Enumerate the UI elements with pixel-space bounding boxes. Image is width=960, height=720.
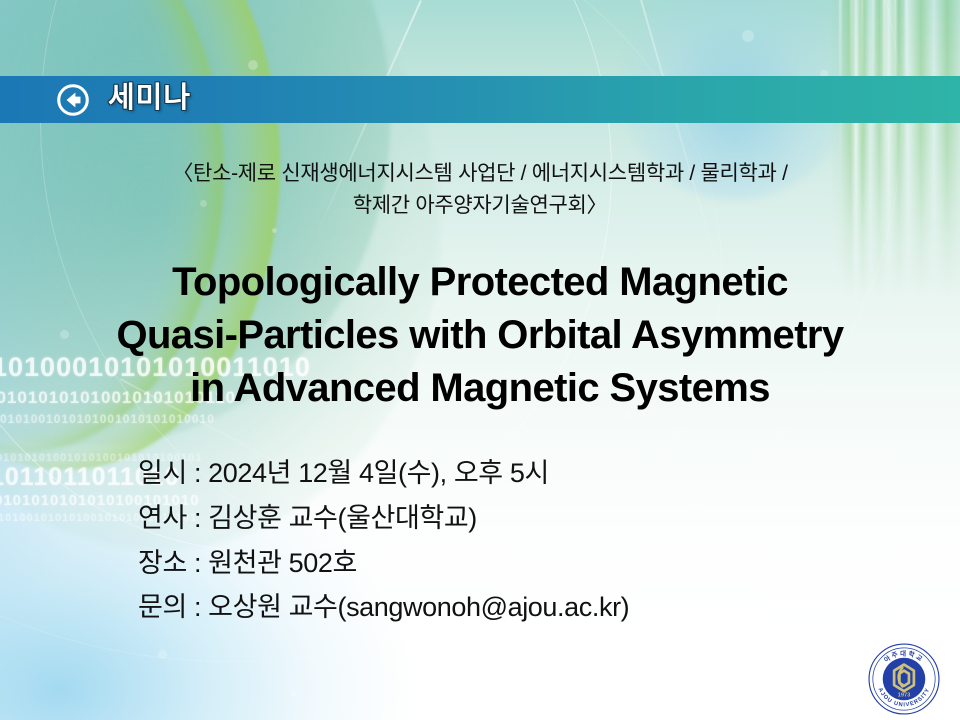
background-bokeh-dot — [290, 690, 297, 697]
seminar-details: 일시 : 2024년 12월 4일(수), 오후 5시 연사 : 김상훈 교수(… — [138, 451, 898, 630]
circle-left-arrow-icon[interactable] — [56, 83, 90, 117]
detail-speaker: 연사 : 김상훈 교수(울산대학교) — [138, 496, 898, 541]
background-bokeh-dot — [272, 228, 277, 233]
background-bokeh-dot — [742, 30, 754, 42]
background-bokeh-dot — [158, 650, 167, 659]
background-bokeh-dot — [248, 60, 258, 70]
seminar-poster: 10100010101010011010 1010101010100101010… — [0, 0, 960, 720]
detail-contact: 문의 : 오상원 교수(sangwonoh@ajou.ac.kr) — [138, 585, 898, 630]
organizer-subtitle-line: 학제간 아주양자기술연구회〉 — [0, 190, 960, 222]
detail-datetime: 일시 : 2024년 12월 4일(수), 오후 5시 — [138, 451, 898, 496]
organizer-subtitle: 〈탄소-제로 신재생에너지시스템 사업단 / 에너지시스템학과 / 물리학과 /… — [0, 158, 960, 222]
page-title-line: in Advanced Magnetic Systems — [0, 362, 960, 415]
page-title-line: Quasi-Particles with Orbital Asymmetry — [0, 309, 960, 362]
banner-title: 세미나 — [108, 84, 191, 116]
seminar-banner: 세미나 — [0, 76, 960, 123]
organizer-subtitle-line: 〈탄소-제로 신재생에너지시스템 사업단 / 에너지시스템학과 / 물리학과 / — [0, 158, 960, 190]
page-title: Topologically Protected Magnetic Quasi-P… — [0, 256, 960, 414]
page-title-line: Topologically Protected Magnetic — [0, 256, 960, 309]
logo-year: 1973 — [898, 692, 911, 698]
detail-venue: 장소 : 원천관 502호 — [138, 541, 898, 586]
ajou-university-logo: 1973 아주대학교 AJOU UNIVERSITY — [866, 641, 942, 717]
